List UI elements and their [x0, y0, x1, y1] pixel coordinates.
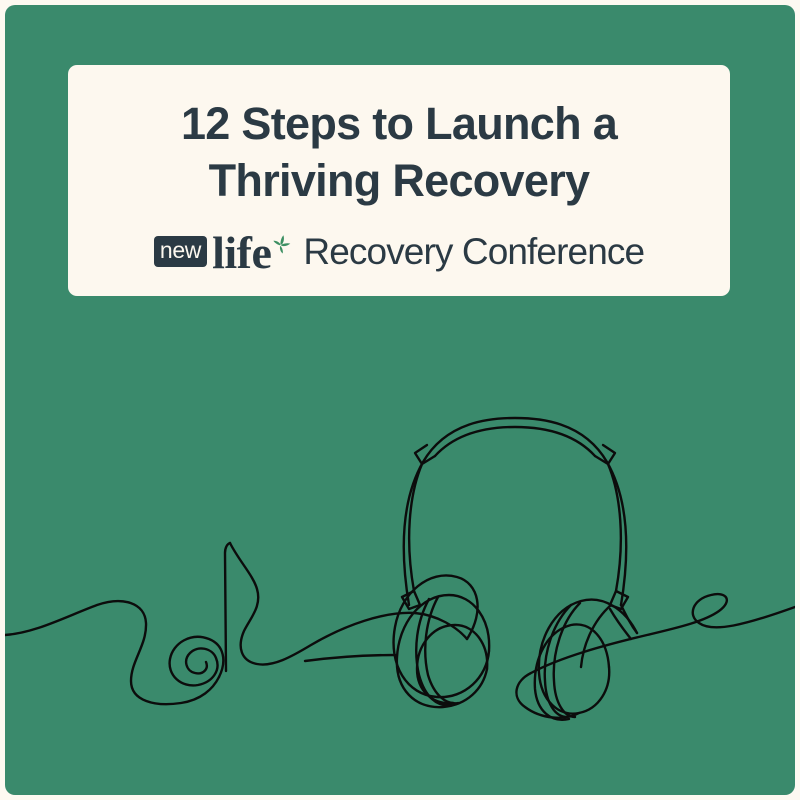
headline-line-2: Thriving Recovery	[68, 152, 730, 209]
right-earcup-pad-3	[581, 605, 611, 667]
page-title: 12 Steps to Launch a Thriving Recovery	[68, 95, 730, 209]
new-badge: new	[154, 236, 207, 267]
headband-arm-right-lower-inner	[610, 609, 631, 639]
right-earcup-outer	[539, 600, 637, 714]
left-earcup-pad-line-2	[425, 597, 458, 703]
headband-outer-arc	[404, 418, 627, 605]
conference-label: Recovery Conference	[303, 233, 644, 270]
headband-notch-left	[415, 445, 435, 464]
headband-arm-right-inner	[608, 464, 621, 605]
green-panel: 12 Steps to Launch a Thriving Recovery n…	[5, 5, 795, 795]
headband-arm-right-lower	[621, 605, 637, 633]
life-wordmark: life	[212, 230, 271, 276]
right-earcup-mid	[535, 624, 609, 719]
title-card: 12 Steps to Launch a Thriving Recovery n…	[68, 65, 730, 296]
left-earcup-inner	[417, 625, 487, 703]
headband-arm-left-inner	[409, 464, 422, 605]
headband-notch-right	[595, 445, 615, 464]
music-note-flag	[230, 543, 415, 665]
right-earcup-pad-2	[554, 603, 580, 717]
headband-inner-band-top	[435, 427, 595, 456]
right-outgoing-line	[516, 594, 795, 718]
music-note-head-spiral	[170, 637, 224, 686]
poster-canvas: 12 Steps to Launch a Thriving Recovery n…	[0, 0, 800, 800]
leaf-sprout-icon	[268, 231, 294, 262]
brand-lockup: new life Recovery Conference	[68, 227, 730, 273]
music-note-stem	[225, 543, 230, 671]
headband-arm-right-tip	[610, 591, 628, 609]
left-earcup-outer	[394, 575, 489, 697]
right-earcup-pad-1	[545, 605, 571, 717]
left-earcup-pad-line-1	[416, 599, 451, 705]
left-earcup-mid	[397, 595, 489, 707]
flowing-line-left	[5, 601, 219, 704]
left-earcup-cable	[305, 655, 395, 661]
line-to-left-earcup	[415, 613, 467, 639]
headband-arm-left-tip	[402, 591, 420, 609]
headline-line-1: 12 Steps to Launch a	[68, 95, 730, 152]
